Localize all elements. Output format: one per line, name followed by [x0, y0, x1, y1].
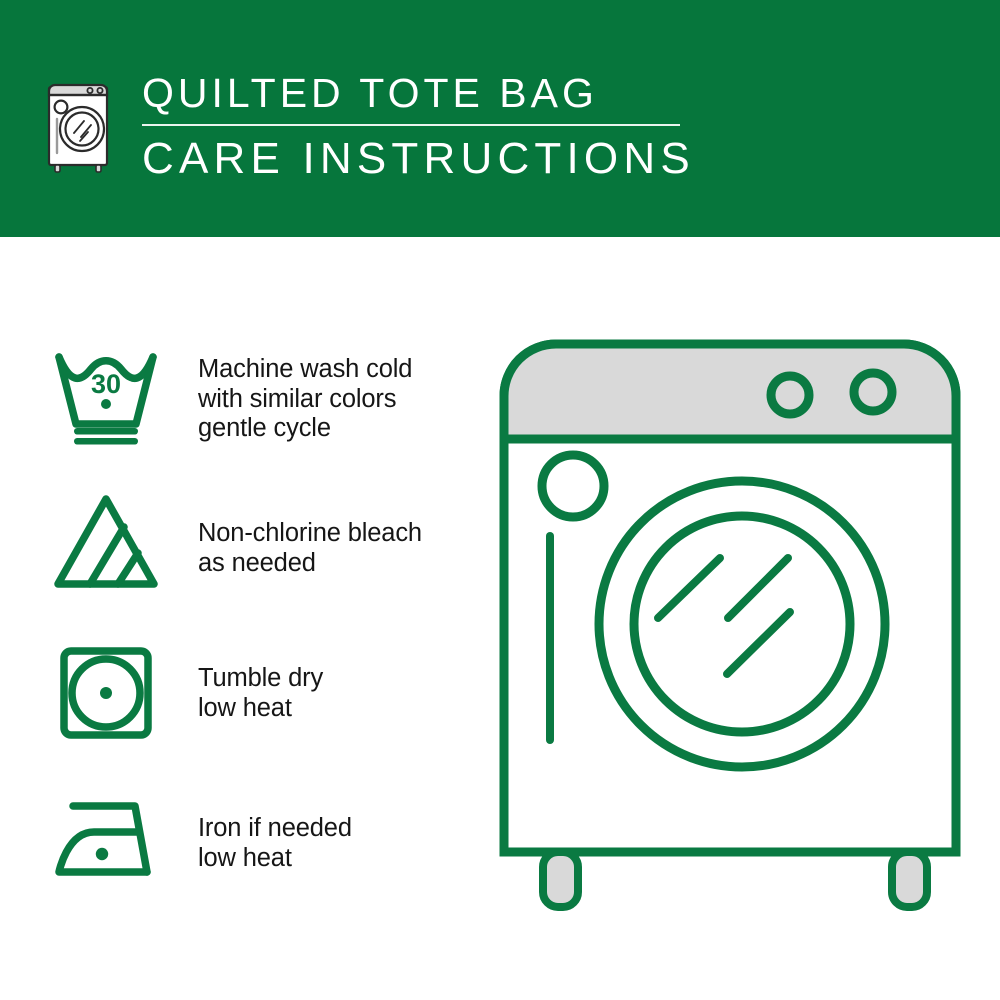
care-row-machine-wash: 30 Machine wash cold with similar colors… — [50, 345, 412, 445]
care-text-iron: Iron if needed low heat — [198, 792, 352, 873]
header-text-block: QUILTED TOTE BAG CARE INSTRUCTIONS — [142, 68, 762, 185]
care-instructions-list: 30 Machine wash cold with similar colors… — [0, 237, 470, 1000]
washer-leg-right — [892, 852, 927, 907]
front-load-washing-machine-illustration — [496, 336, 964, 920]
tumble-dry-icon — [50, 642, 162, 742]
care-instructions-page: QUILTED TOTE BAG CARE INSTRUCTIONS 30 — [0, 0, 1000, 1000]
washer-leg-left — [543, 852, 578, 907]
title-divider — [142, 124, 680, 126]
svg-text:30: 30 — [91, 369, 121, 399]
care-text-bleach: Non-chlorine bleach as needed — [198, 491, 422, 578]
wash-tub-icon: 30 — [50, 345, 162, 445]
washing-machine-icon — [44, 69, 114, 174]
page-title: QUILTED TOTE BAG — [142, 68, 762, 118]
page-subtitle: CARE INSTRUCTIONS — [142, 133, 762, 185]
care-text-tumble-dry: Tumble dry low heat — [198, 642, 323, 723]
header-banner: QUILTED TOTE BAG CARE INSTRUCTIONS — [0, 0, 1000, 237]
care-row-bleach: Non-chlorine bleach as needed — [50, 491, 422, 591]
bleach-triangle-icon — [50, 491, 162, 591]
iron-icon — [50, 792, 162, 892]
care-row-iron: Iron if needed low heat — [50, 792, 352, 892]
care-row-tumble-dry: Tumble dry low heat — [50, 642, 323, 742]
care-text-machine-wash: Machine wash cold with similar colors ge… — [198, 345, 412, 444]
